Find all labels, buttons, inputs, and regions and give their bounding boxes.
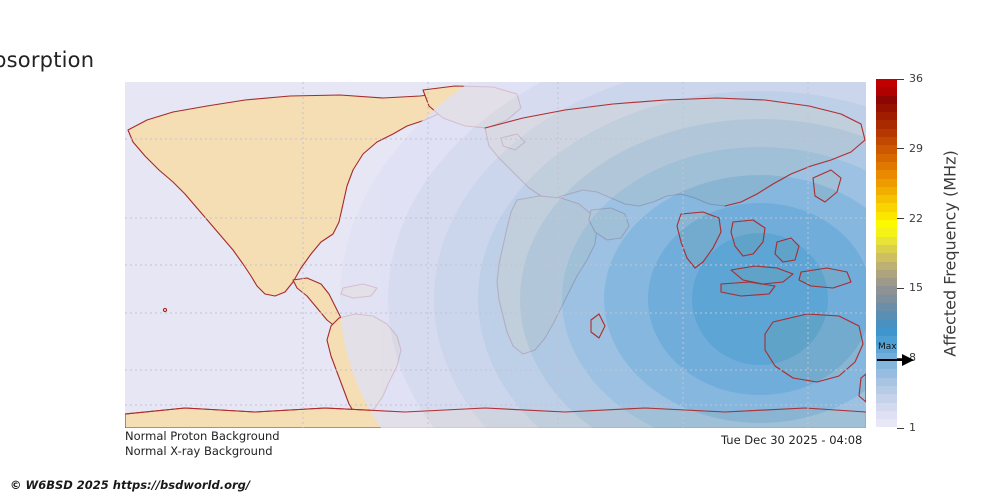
colorbar-axis-label: Affected Frequency (MHz) <box>938 79 962 428</box>
hawaii-islands <box>163 308 166 311</box>
colorbar-segment <box>876 104 897 112</box>
colorbar-segment <box>876 129 897 137</box>
colorbar-segment <box>876 303 897 311</box>
colorbar-tick: 22 <box>897 212 923 225</box>
colorbar-segment <box>876 295 897 303</box>
colorbar-segment <box>876 87 897 95</box>
colorbar-segment <box>876 394 897 402</box>
colorbar-segment <box>876 419 897 427</box>
colorbar-tick-label: 36 <box>909 72 923 85</box>
colorbar-segment <box>876 253 897 261</box>
world-map-axes[interactable] <box>125 82 866 428</box>
colorbar-tick-label: 29 <box>909 142 923 155</box>
colorbar-segment <box>876 195 897 203</box>
colorbar-tick: 1 <box>897 421 916 434</box>
colorbar-tick: 15 <box>897 281 923 294</box>
colorbar-segment <box>876 270 897 278</box>
colorbar-tick-label: 15 <box>909 281 923 294</box>
colorbar-segment <box>876 96 897 104</box>
colorbar-segment <box>876 120 897 128</box>
timestamp: Tue Dec 30 2025 - 04:08 <box>721 433 862 447</box>
colorbar-segment <box>876 403 897 411</box>
colorbar-segment <box>876 187 897 195</box>
colorbar-label-text: Affected Frequency (MHz) <box>941 150 960 356</box>
colorbar-segment <box>876 320 897 328</box>
colorbar-segment <box>876 179 897 187</box>
colorbar-segment <box>876 237 897 245</box>
figure-canvas: DLayer Absorption <box>0 0 1000 500</box>
colorbar-segment <box>876 228 897 236</box>
colorbar-segment <box>876 286 897 294</box>
colorbar-segment <box>876 328 897 336</box>
map-graphic <box>125 82 866 428</box>
colorbar-tick-label: 1 <box>909 421 916 434</box>
colorbar-segment <box>876 262 897 270</box>
colorbar-segment <box>876 203 897 211</box>
colorbar-segment <box>876 79 897 87</box>
colorbar-segment <box>876 378 897 386</box>
colorbar-segment <box>876 137 897 145</box>
colorbar-segment <box>876 386 897 394</box>
colorbar-tick-label: 22 <box>909 212 923 225</box>
colorbar-segment <box>876 154 897 162</box>
colorbar-segment <box>876 212 897 220</box>
copyright-notice: © W6BSD 2025 https://bsdworld.org/ <box>10 478 250 492</box>
absorption-contours <box>340 82 866 428</box>
colorbar[interactable] <box>876 79 897 428</box>
colorbar-tick: 29 <box>897 142 923 155</box>
chart-title: DLayer Absorption <box>0 48 94 72</box>
colorbar-segment <box>876 311 897 319</box>
colorbar-segment <box>876 411 897 419</box>
xray-background-note: Normal X-ray Background <box>125 444 273 458</box>
max-absorption-marker: Max <box>876 345 916 371</box>
colorbar-tick: 36 <box>897 72 923 85</box>
colorbar-segment <box>876 278 897 286</box>
proton-background-note: Normal Proton Background <box>125 429 280 443</box>
colorbar-segment <box>876 162 897 170</box>
page-title: DLayer Absorption <box>0 48 1000 72</box>
colorbar-segment <box>876 112 897 120</box>
colorbar-segment <box>876 170 897 178</box>
colorbar-segment <box>876 245 897 253</box>
colorbar-segment <box>876 220 897 228</box>
colorbar-segment <box>876 145 897 153</box>
max-marker-label: Max <box>878 342 897 352</box>
